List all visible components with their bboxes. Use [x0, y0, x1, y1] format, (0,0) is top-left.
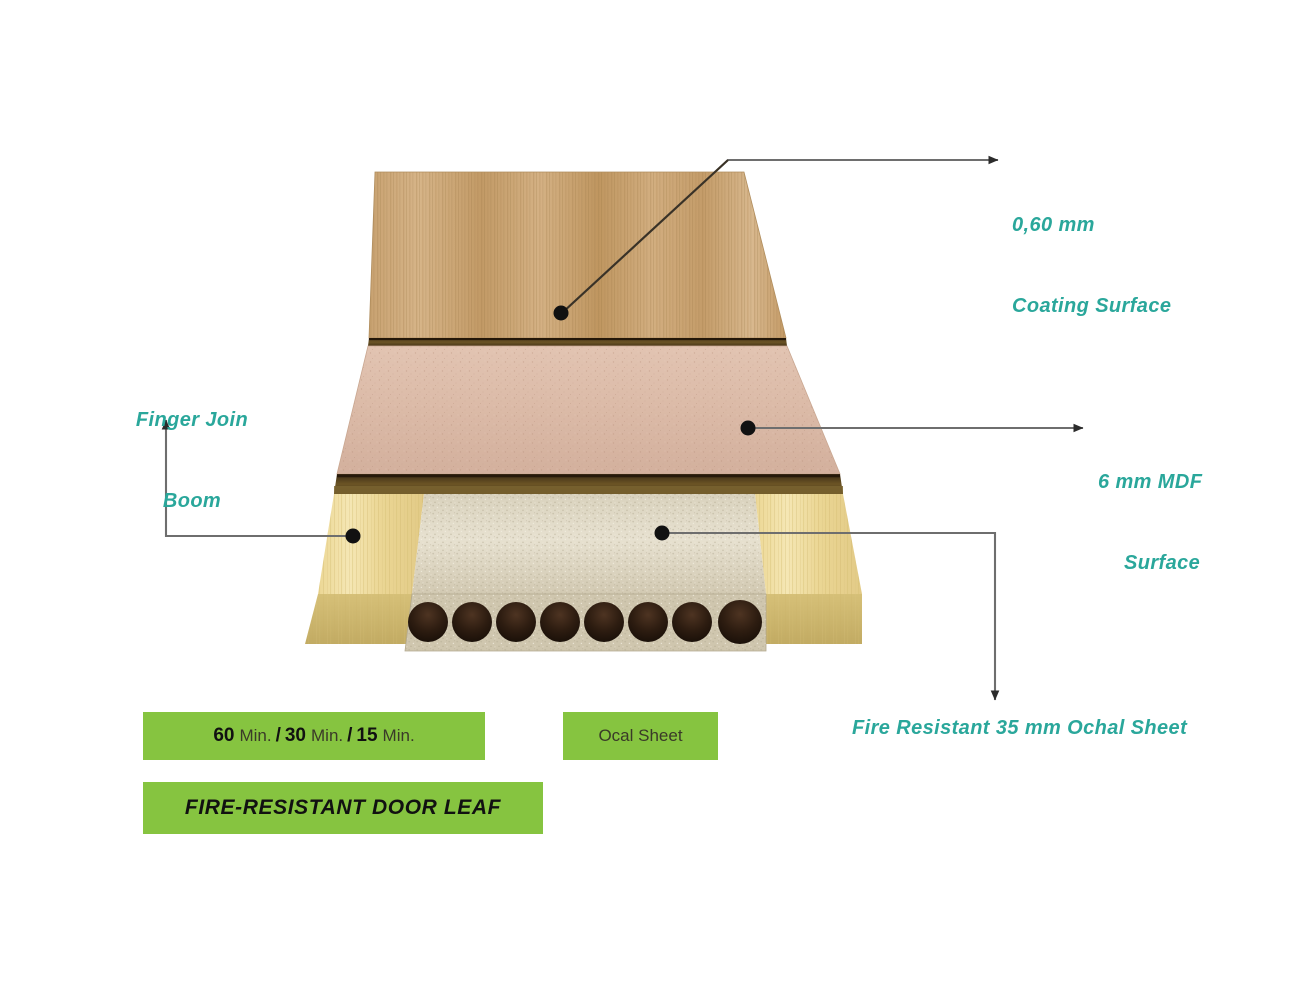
callout-ochal-sheet: Fire Resistant 35 mm Ochal Sheet: [852, 715, 1187, 742]
callout-mdf-line1: 6 mm MDF: [1098, 469, 1202, 496]
callout-mdf-line2: Surface: [1098, 550, 1202, 577]
rating-60-unit: Min.: [234, 726, 271, 746]
rating-30-value: 30: [285, 725, 306, 747]
layer-coating-veneer: [369, 172, 786, 338]
callout-finger-join: Finger Join Boom: [118, 353, 266, 569]
callout-coating-surface: 0,60 mm Coating Surface: [1012, 158, 1171, 374]
layer-finger-join-frame-left: [305, 494, 424, 644]
layer-mdf-surface: [337, 346, 840, 474]
callout-finger-line2: Boom: [118, 488, 266, 515]
seam-veneer-mdf: [368, 338, 787, 346]
diagram-canvas: 0,60 mm Coating Surface 6 mm MDF Surface…: [0, 0, 1300, 1000]
badge-fire-ratings: 60 Min. / 30 Min. / 15 Min.: [143, 712, 485, 760]
layer-finger-join-frame-right: [755, 494, 862, 644]
callout-mdf-surface: 6 mm MDF Surface: [1098, 415, 1202, 631]
rating-60-value: 60: [213, 725, 234, 747]
rating-15-unit: Min.: [378, 726, 415, 746]
callout-coating-line1: 0,60 mm: [1012, 212, 1171, 239]
rating-separator-2: /: [343, 725, 356, 747]
badge-product-title: FIRE-RESISTANT DOOR LEAF: [143, 782, 543, 834]
rating-15-value: 15: [356, 725, 377, 747]
seam-mdf-core: [334, 474, 843, 494]
callout-finger-line1: Finger Join: [118, 407, 266, 434]
rating-30-unit: Min.: [306, 726, 343, 746]
badge-ocal-sheet: Ocal Sheet: [563, 712, 718, 760]
callout-coating-line2: Coating Surface: [1012, 293, 1171, 320]
rating-separator-1: /: [272, 725, 285, 747]
